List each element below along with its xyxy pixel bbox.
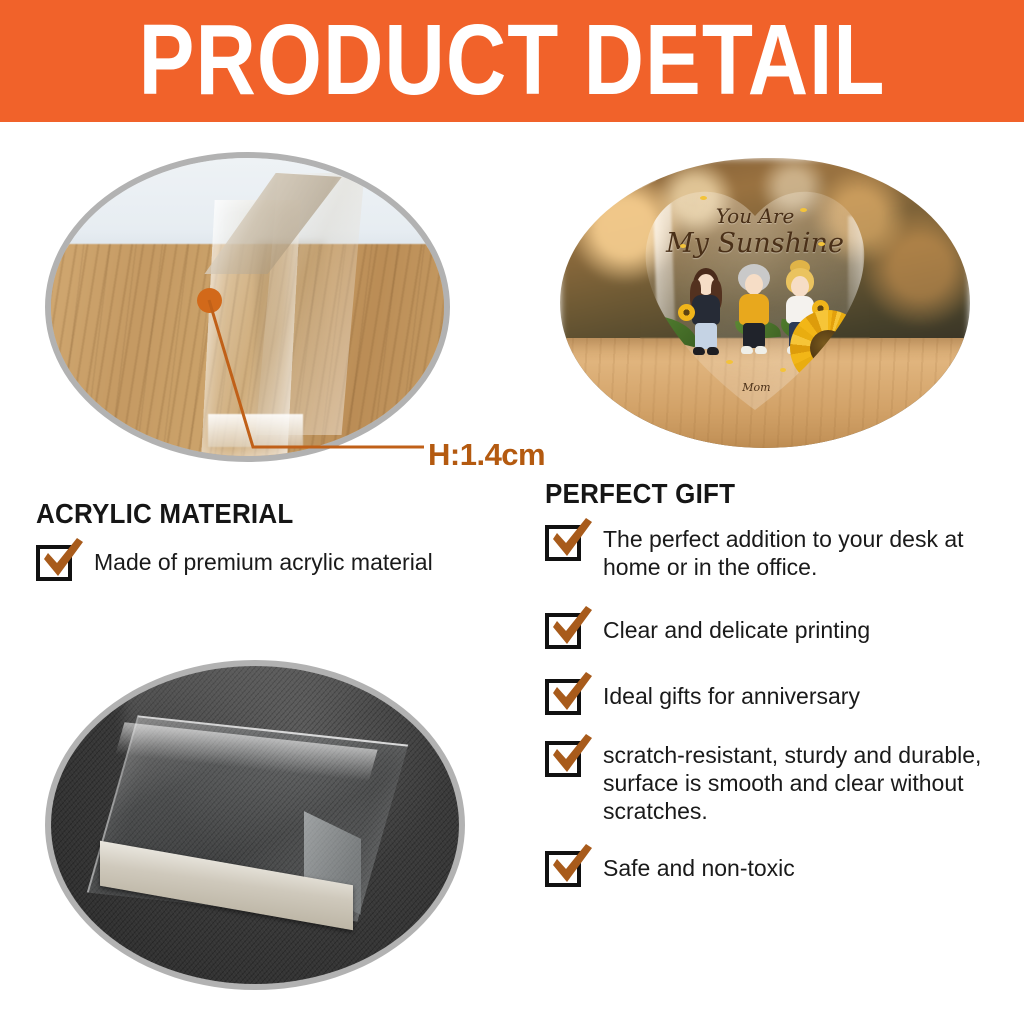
checkbox-checked-icon[interactable] [545,679,581,715]
list-item-label: Clear and delicate printing [603,616,870,644]
checkbox-checked-icon[interactable] [36,545,72,581]
petal-fleck [800,208,807,212]
figure-mom [732,264,776,358]
header-banner: PRODUCT DETAIL [0,0,1024,122]
check-icon [38,533,86,581]
list-item: scratch-resistant, sturdy and durable, s… [545,741,1010,825]
measurement-point-icon [197,288,222,313]
slate-background [51,666,459,984]
check-icon [547,601,595,649]
petal-fleck [680,244,686,248]
ashley-jacket [692,295,720,325]
petal-fleck [818,242,825,246]
mom-hoodie [739,294,769,325]
ashley-jeans [695,323,717,349]
petal-fleck [780,368,786,372]
list-item: Clear and delicate printing [545,613,1010,649]
check-icon [547,513,595,561]
section-title-perfect-gift: PERFECT GIFT [545,478,735,511]
checkbox-checked-icon[interactable] [545,851,581,887]
feature-list-perfect-gift: The perfect addition to your desk at hom… [545,525,1010,887]
mom-shoe-right [755,346,767,354]
height-callout-label: H:1.4cm [428,437,545,473]
acrylic-block-photo [45,660,465,990]
acrylic-edge-photo [45,152,450,462]
checkbox-checked-icon[interactable] [545,613,581,649]
mom-pants [743,323,765,348]
section-title-acrylic-material: ACRYLIC MATERIAL [36,498,293,531]
list-item: Ideal gifts for anniversary [545,679,1010,715]
mom-shoe-left [741,346,753,354]
list-item-label: The perfect addition to your desk at hom… [603,525,1003,581]
list-item-label: scratch-resistant, sturdy and durable, s… [603,741,1010,825]
check-icon [547,667,595,715]
mom-head [745,274,763,295]
list-item: Safe and non-toxic [545,851,1010,887]
list-item-label: Ideal gifts for anniversary [603,682,860,710]
ashley-shoe-left [693,347,705,355]
list-item: Made of premium acrylic material [36,545,516,581]
ashley-shoe-right [707,347,719,355]
feature-list-acrylic-material: Made of premium acrylic material [36,545,516,607]
checkbox-checked-icon[interactable] [545,525,581,561]
check-icon [547,839,595,887]
oliver-head [791,276,809,297]
acrylic-base [208,414,302,447]
ashley-mini-sunflower-icon [678,304,695,321]
page-title: PRODUCT DETAIL [139,11,886,111]
petal-fleck [700,196,707,200]
petal-fleck [726,360,733,364]
checkbox-checked-icon[interactable] [545,741,581,777]
check-icon [547,729,595,777]
list-item: The perfect addition to your desk at hom… [545,525,1010,581]
list-item-label: Made of premium acrylic material [94,548,433,576]
product-detail-infographic: PRODUCT DETAIL H:1.4cm You Are My Sunshi… [0,0,1024,1024]
wood-table-background [51,158,444,456]
figure-ashley [684,268,728,358]
plaque-name: Mom [742,381,770,394]
plaque-text-line2: My Sunshine [640,228,870,259]
heart-plaque-photo: You Are My Sunshine [560,158,970,448]
list-item-label: Safe and non-toxic [603,854,795,882]
